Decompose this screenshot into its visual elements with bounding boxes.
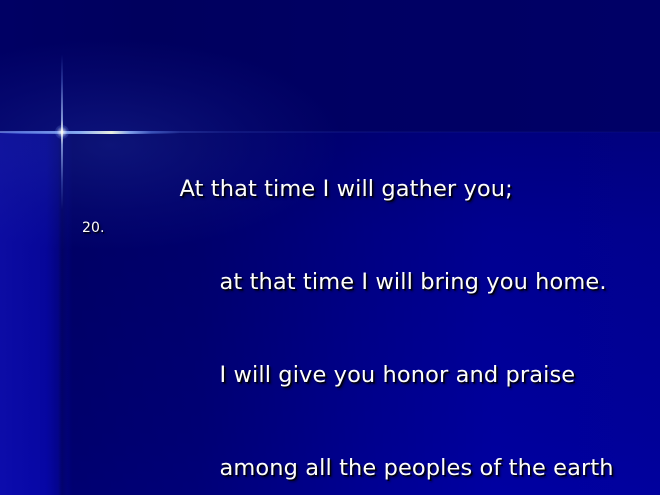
horizon-divider-line xyxy=(0,131,660,133)
verse-line-1-text: At that time I will gather you; xyxy=(180,176,513,202)
verse-number: 20. xyxy=(82,221,105,235)
verse-line-4: among all the peoples of the earth xyxy=(0,422,660,495)
verse-line-3-text: I will give you honor and praise xyxy=(220,362,576,388)
verse-line-1: 20.At that time I will gather you; xyxy=(0,143,660,236)
verse-line-2-text: at that time I will bring you home. xyxy=(220,269,607,295)
background-upper-band xyxy=(0,0,660,132)
presentation-slide: 20.At that time I will gather you; at th… xyxy=(0,0,660,495)
verse-text-block: 20.At that time I will gather you; at th… xyxy=(0,143,660,495)
verse-line-3: I will give you honor and praise xyxy=(0,329,660,422)
verse-line-2: at that time I will bring you home. xyxy=(0,236,660,329)
verse-line-4-text: among all the peoples of the earth xyxy=(220,455,614,481)
